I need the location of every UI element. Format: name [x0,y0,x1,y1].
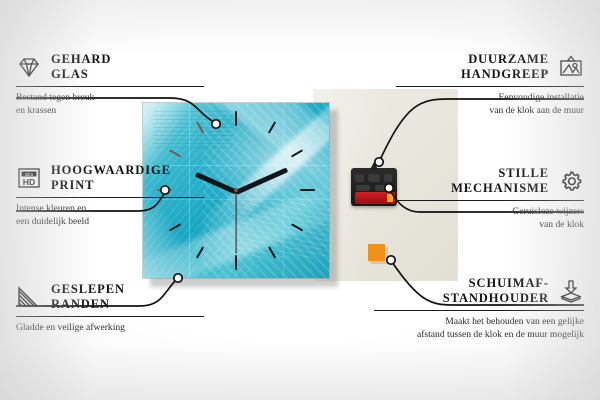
glass-seam-vertical-2 [283,103,284,278]
hour-marker-7 [196,246,204,258]
feature-divider [16,197,204,199]
hour-marker-10 [169,149,181,157]
picture-hanger-icon [558,55,584,79]
hour-marker-2 [291,149,303,157]
svg-text:HD: HD [23,177,35,187]
hour-marker-6 [235,255,237,270]
hour-marker-12 [235,111,237,126]
feature-description: Gladde en veilige afwerking [16,322,226,335]
clock-center-pin [234,188,238,192]
foam-spacer-block [368,244,385,261]
feature-desc-line2: en krassen [16,105,226,118]
feature-desc-line1: Intense kleuren en [16,203,226,216]
feature-title: STILLE MECHANISME [451,166,549,196]
feature-title-line2: PRINT [51,178,171,193]
feature-description: Eenvoudige installatie van de klok aan d… [374,92,584,117]
feature-header: GESLEPEN RANDEN [16,282,226,312]
feature-description: Bestand tegen breuk en krassen [16,92,226,117]
feature-divider [396,86,584,88]
feature-divider [16,316,204,318]
hour-marker-1 [268,121,276,133]
clock-second-hand [235,192,236,254]
feature-header: STILLE MECHANISME [374,166,584,196]
feature-desc-line1: Eenvoudige installatie [374,92,584,105]
ultra-hd-icon: ultra HD [16,166,42,190]
infographic-canvas: GEHARD GLAS Bestand tegen breuk en krass… [0,0,600,400]
feature-divider [374,310,584,312]
feature-title: GEHARD GLAS [51,52,111,82]
hour-marker-3 [300,189,315,191]
feature-title-line2: STANDHOUDER [443,291,549,306]
feature-title: SCHUIMAF- STANDHOUDER [443,276,549,306]
diamond-icon [16,55,42,79]
feature-title-line1: DUURZAME [461,52,549,67]
feature-duurzame-handgreep[interactable]: DUURZAME HANDGREEP Eenvoudige installati… [374,52,584,117]
feature-geslepen-randen[interactable]: GESLEPEN RANDEN Gladde en veilige afwerk… [16,282,226,335]
feature-description: Geruisloze wijzers van de klok [374,206,584,231]
feature-header: GEHARD GLAS [16,52,226,82]
feature-header: ultra HD HOOGWAARDIGE PRINT [16,163,226,193]
feature-description: Intense kleuren en een duidelijk beeld [16,203,226,228]
feature-desc-line2: afstand tussen de klok en de muur mogeli… [374,329,584,342]
feature-divider [396,200,584,202]
feature-schuimafstandhouder[interactable]: SCHUIMAF- STANDHOUDER Maakt het behouden… [374,276,584,341]
feature-desc-line2: van de klok [374,219,584,232]
feature-title-line2: HANDGREEP [461,67,549,82]
foam-spacer-icon [558,279,584,303]
feature-desc-line2: van de klok aan de muur [374,105,584,118]
feature-title-line1: GESLEPEN [51,282,125,297]
feature-gehard-glas[interactable]: GEHARD GLAS Bestand tegen breuk en krass… [16,52,226,117]
feature-title: GESLEPEN RANDEN [51,282,125,312]
hour-marker-4 [291,223,303,231]
feature-desc-line2: een duidelijk beeld [16,216,226,229]
feature-desc-line1: Geruisloze wijzers [374,206,584,219]
mechanism-detail-1 [355,174,364,182]
feature-title: HOOGWAARDIGE PRINT [51,163,171,193]
clock-minute-hand [235,167,288,194]
feature-title: DUURZAME HANDGREEP [461,52,549,82]
feature-desc-line1: Maakt het behouden van een gelijke [374,316,584,329]
gear-icon [558,169,584,193]
feature-header: SCHUIMAF- STANDHOUDER [374,276,584,306]
feature-title-line2: RANDEN [51,297,125,312]
feature-divider [16,86,204,88]
feature-title-line1: SCHUIMAF- [443,276,549,291]
hour-marker-5 [268,246,276,258]
feature-hoogwaardige-print[interactable]: ultra HD HOOGWAARDIGE PRINT Intense kleu… [16,163,226,228]
feature-header: DUURZAME HANDGREEP [374,52,584,82]
feature-title-line1: HOOGWAARDIGE [51,163,171,178]
feature-title-line2: MECHANISME [451,181,549,196]
hour-marker-11 [196,121,204,133]
feature-desc-line1: Gladde en veilige afwerking [16,322,226,335]
feature-stille-mechanisme[interactable]: STILLE MECHANISME Geruisloze wijzers van… [374,166,584,231]
mechanism-detail-4 [356,185,370,191]
feature-description: Maakt het behouden van een gelijke afsta… [374,316,584,341]
feature-title-line2: GLAS [51,67,111,82]
feature-title-line1: STILLE [451,166,549,181]
feature-desc-line1: Bestand tegen breuk [16,92,226,105]
beveled-edge-icon [16,285,42,309]
feature-title-line1: GEHARD [51,52,111,67]
